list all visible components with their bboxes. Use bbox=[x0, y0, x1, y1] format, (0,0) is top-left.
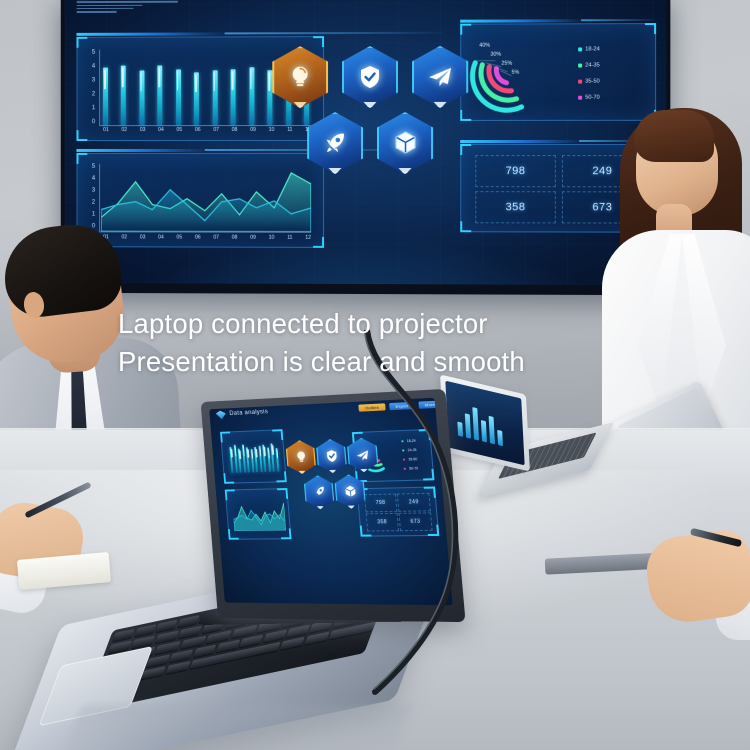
donut-panel-accent-2 bbox=[581, 19, 654, 21]
shield-check-icon bbox=[325, 449, 339, 463]
donut-legend-label-2: 35-50 bbox=[585, 79, 599, 85]
laptop-legend-0: 18-24 bbox=[407, 439, 416, 443]
main-laptop-reflection bbox=[58, 705, 412, 750]
laptop-stat-0: 798 bbox=[364, 494, 397, 513]
donut-legend-label-1: 24-35 bbox=[585, 62, 599, 68]
donut-legend-0: 18-24 bbox=[578, 46, 600, 52]
presentation-scene: 543 210 010203040506 070809101112 bbox=[0, 0, 750, 750]
laptop-hex-rocket[interactable] bbox=[303, 475, 335, 509]
laptop-stat-1: 249 bbox=[397, 493, 431, 512]
main-laptop-lid: Data analysis Outline Export More bbox=[201, 389, 466, 622]
donut-value-1: 30% bbox=[490, 52, 501, 58]
laptop-dashboard-toolbar: Data analysis Outline Export More bbox=[209, 398, 436, 425]
donut-value-3: 5% bbox=[511, 70, 519, 76]
laptop-legend-2: 35-50 bbox=[408, 457, 417, 461]
stats-panel-accent bbox=[460, 140, 579, 143]
bar-panel-accent bbox=[76, 32, 224, 35]
rocket-icon bbox=[323, 131, 347, 156]
app-logo-icon bbox=[216, 410, 227, 419]
dashboard-header-note bbox=[76, 0, 194, 14]
laptop-area-panel bbox=[225, 488, 292, 540]
caption-block: Laptop connected to projector Presentati… bbox=[118, 305, 678, 381]
laptop-legend-3: 50-70 bbox=[409, 466, 418, 470]
dashboard-title: Data analysis bbox=[229, 408, 268, 417]
donut-chart-panel: 40% 30% 25% 5% 18-24 24-35 35-50 50-70 bbox=[460, 23, 656, 121]
laptop-legend-1: 24-35 bbox=[408, 448, 417, 452]
cube-icon bbox=[393, 130, 418, 156]
donut-legend-label-0: 18-24 bbox=[585, 46, 599, 52]
bar-chart-y-axis: 543 210 bbox=[83, 50, 97, 125]
donut-legend-1: 24-35 bbox=[578, 62, 600, 68]
toolbar-button-export[interactable]: Export bbox=[389, 402, 415, 410]
caption-line-1: Laptop connected to projector bbox=[118, 305, 678, 343]
donut-legend-3: 50-70 bbox=[578, 95, 600, 101]
main-laptop: Data analysis Outline Export More bbox=[40, 395, 470, 725]
bar-chart-x-axis: 010203040506 070809101112 bbox=[103, 127, 311, 136]
laptop-bar-panel bbox=[220, 429, 287, 484]
cube-icon bbox=[343, 484, 357, 498]
area-panel-accent bbox=[76, 149, 204, 152]
donut-value-0: 40% bbox=[479, 43, 490, 49]
laptop-hex-shield[interactable] bbox=[316, 438, 348, 473]
woman-hair-front bbox=[634, 110, 714, 162]
laptop-stat-2: 358 bbox=[366, 513, 399, 532]
main-laptop-screen: Data analysis Outline Export More bbox=[209, 398, 452, 606]
donut-legend-label-3: 50-70 bbox=[585, 95, 599, 101]
shield-check-icon bbox=[358, 64, 382, 90]
paper-plane-icon bbox=[427, 65, 453, 89]
donut-panel-accent bbox=[460, 19, 581, 22]
laptop-stats-panel: 798 249 358 673 bbox=[357, 486, 440, 536]
donut-legend-2: 35-50 bbox=[578, 79, 600, 85]
lightbulb-icon bbox=[288, 64, 312, 90]
donut-value-2: 25% bbox=[501, 61, 512, 67]
man-hair bbox=[0, 219, 125, 320]
lightbulb-icon bbox=[294, 450, 307, 464]
toolbar-button-more[interactable]: More bbox=[418, 401, 441, 409]
laptop-hex-lightbulb[interactable] bbox=[285, 440, 316, 475]
toolbar-button-outline[interactable]: Outline bbox=[358, 403, 385, 411]
paper-plane-icon bbox=[355, 448, 370, 462]
laptop-stat-3: 673 bbox=[399, 512, 433, 531]
rocket-icon bbox=[312, 485, 326, 499]
stat-cell-0: 798 bbox=[475, 155, 556, 187]
caption-line-2: Presentation is clear and smooth bbox=[118, 343, 678, 381]
